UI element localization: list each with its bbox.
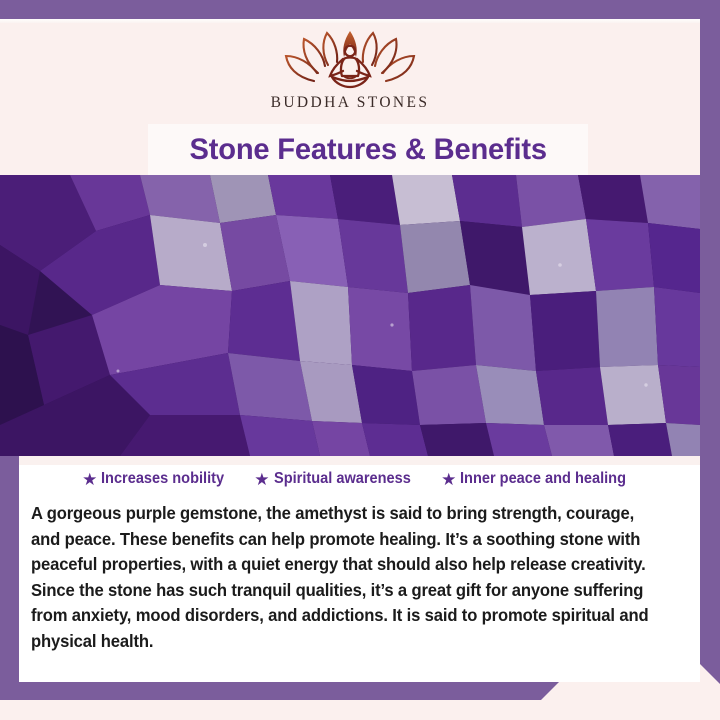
stone-description: A gorgeous purple gemstone, the amethyst… xyxy=(31,501,661,654)
feature-label: Increases nobility xyxy=(101,470,224,488)
brand-name: BUDDHA STONES xyxy=(271,94,430,112)
star-icon: ★ xyxy=(82,471,97,488)
feature-item-spiritual-awareness: ★ Spiritual awareness xyxy=(254,470,419,488)
infographic-page: BUDDHA STONES Stone Features & Benefits xyxy=(0,0,720,720)
frame-band-left xyxy=(0,452,19,700)
card-top-tint xyxy=(19,456,700,465)
feature-item-inner-peace-and-healing: ★ Inner peace and healing xyxy=(441,470,637,488)
page-title: Stone Features & Benefits xyxy=(189,133,546,167)
amethyst-crystal-photo: Amethyst xyxy=(0,175,700,456)
feature-label: Spiritual awareness xyxy=(274,470,411,488)
description-card: ★ Increases nobility ★ Spiritual awarene… xyxy=(19,456,700,682)
star-icon: ★ xyxy=(441,471,456,488)
feature-list: ★ Increases nobility ★ Spiritual awarene… xyxy=(19,465,700,488)
star-icon: ★ xyxy=(254,471,269,488)
feature-label: Inner peace and healing xyxy=(460,470,626,488)
frame-band-top xyxy=(0,0,720,19)
lotus-meditation-icon xyxy=(284,23,416,89)
frame-band-bottom xyxy=(0,681,560,700)
brand-header: BUDDHA STONES xyxy=(0,23,700,123)
title-banner: Stone Features & Benefits xyxy=(148,124,588,176)
feature-item-increases-nobility: ★ Increases nobility xyxy=(82,470,232,488)
frame-band-right xyxy=(700,0,720,684)
crystal-illustration xyxy=(0,175,700,456)
